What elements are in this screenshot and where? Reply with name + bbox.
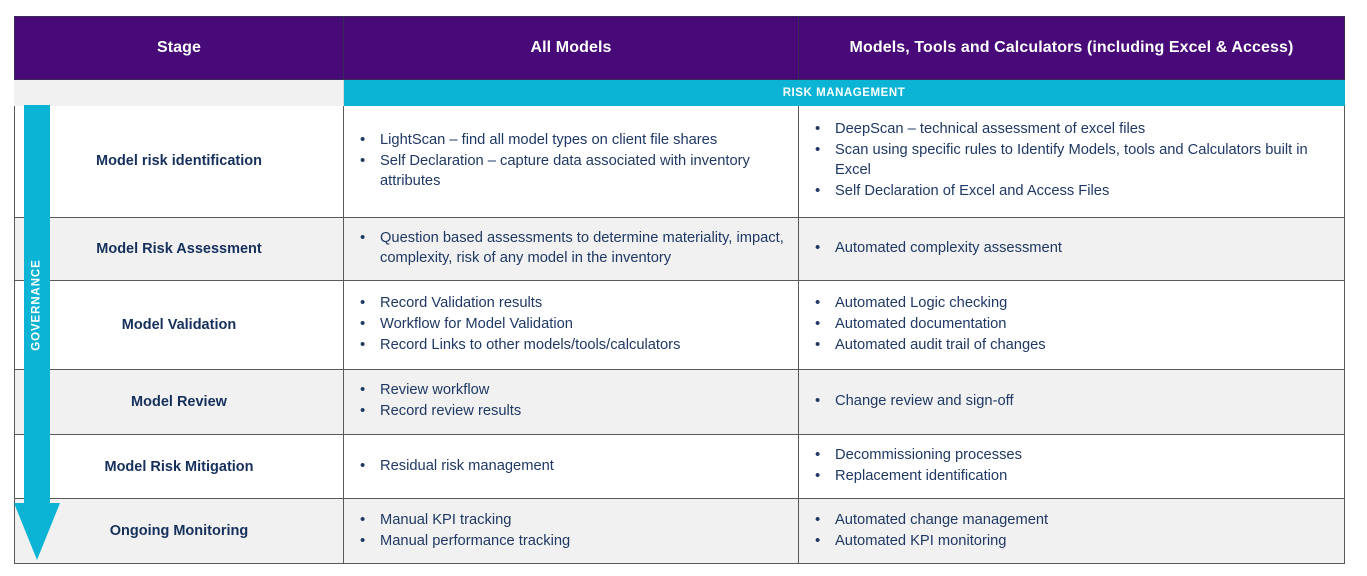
table-row: Ongoing Monitoring Manual KPI tracking M…: [15, 499, 1345, 564]
cell-models-tools-0: DeepScan – technical assessment of excel…: [799, 106, 1345, 218]
list-item: Automated complexity assessment: [813, 239, 1332, 259]
list-item: Replacement identification: [813, 467, 1332, 487]
cell-all-models-3: Review workflow Record review results: [344, 370, 799, 435]
list-item: Record Validation results: [358, 294, 786, 314]
table-header: Stage All Models Models, Tools and Calcu…: [15, 17, 1345, 80]
list-item: Scan using specific rules to Identify Mo…: [813, 141, 1332, 181]
list-item: Manual performance tracking: [358, 532, 786, 552]
list-item: Automated KPI monitoring: [813, 532, 1332, 552]
stage-label-model-risk-mitigation: Model Risk Mitigation: [15, 434, 344, 499]
bullet-list: Automated complexity assessment: [813, 239, 1332, 259]
list-item: DeepScan – technical assessment of excel…: [813, 120, 1332, 140]
list-item: Residual risk management: [358, 457, 786, 477]
cell-all-models-1: Question based assessments to determine …: [344, 217, 799, 280]
list-item: Automated Logic checking: [813, 294, 1332, 314]
lifecycle-table: Stage All Models Models, Tools and Calcu…: [14, 16, 1345, 564]
section-band-risk-management: RISK MANAGEMENT: [344, 80, 1345, 106]
list-item: Automated audit trail of changes: [813, 336, 1332, 356]
cell-all-models-5: Manual KPI tracking Manual performance t…: [344, 499, 799, 564]
list-item: Self Declaration – capture data associat…: [358, 152, 786, 192]
list-item: Decommissioning processes: [813, 446, 1332, 466]
list-item: Automated change management: [813, 511, 1332, 531]
cell-models-tools-1: Automated complexity assessment: [799, 217, 1345, 280]
list-item: Change review and sign-off: [813, 392, 1332, 412]
stage-label-model-validation: Model Validation: [15, 281, 344, 370]
bullet-list: Question based assessments to determine …: [358, 229, 786, 269]
lifecycle-table-wrapper: Stage All Models Models, Tools and Calcu…: [14, 16, 1344, 564]
section-band-row: RISK MANAGEMENT: [15, 80, 1345, 106]
bullet-list: Record Validation results Workflow for M…: [358, 294, 786, 356]
list-item: Record Links to other models/tools/calcu…: [358, 336, 786, 356]
list-item: Workflow for Model Validation: [358, 315, 786, 335]
model-risk-lifecycle-diagram: Stage All Models Models, Tools and Calcu…: [0, 0, 1367, 576]
table-row: Model Risk Assessment Question based ass…: [15, 217, 1345, 280]
cell-models-tools-4: Decommissioning processes Replacement id…: [799, 434, 1345, 499]
column-header-stage: Stage: [15, 17, 344, 80]
list-item: Manual KPI tracking: [358, 511, 786, 531]
header-row: Stage All Models Models, Tools and Calcu…: [15, 17, 1345, 80]
bullet-list: Residual risk management: [358, 457, 786, 477]
stage-label-model-risk-identification: Model risk identification: [15, 106, 344, 218]
stage-label-model-risk-assessment: Model Risk Assessment: [15, 217, 344, 280]
cell-models-tools-2: Automated Logic checking Automated docum…: [799, 281, 1345, 370]
bullet-list: DeepScan – technical assessment of excel…: [813, 120, 1332, 202]
bullet-list: Review workflow Record review results: [358, 381, 786, 422]
column-header-models-tools-calculators: Models, Tools and Calculators (including…: [799, 17, 1345, 80]
list-item: LightScan – find all model types on clie…: [358, 131, 786, 151]
table-row: Model Validation Record Validation resul…: [15, 281, 1345, 370]
column-header-all-models: All Models: [344, 17, 799, 80]
bullet-list: Automated Logic checking Automated docum…: [813, 294, 1332, 356]
bullet-list: Automated change management Automated KP…: [813, 511, 1332, 552]
table-row: Model Risk Mitigation Residual risk mana…: [15, 434, 1345, 499]
list-item: Automated documentation: [813, 315, 1332, 335]
cell-all-models-4: Residual risk management: [344, 434, 799, 499]
stage-label-model-review: Model Review: [15, 370, 344, 435]
table-row: Model Review Review workflow Record revi…: [15, 370, 1345, 435]
cell-all-models-2: Record Validation results Workflow for M…: [344, 281, 799, 370]
cell-models-tools-5: Automated change management Automated KP…: [799, 499, 1345, 564]
cell-models-tools-3: Change review and sign-off: [799, 370, 1345, 435]
table-row: Model risk identification LightScan – fi…: [15, 106, 1345, 218]
stage-label-ongoing-monitoring: Ongoing Monitoring: [15, 499, 344, 564]
section-band-spacer: [15, 80, 344, 106]
list-item: Review workflow: [358, 381, 786, 401]
list-item: Self Declaration of Excel and Access Fil…: [813, 182, 1332, 202]
list-item: Question based assessments to determine …: [358, 229, 786, 269]
list-item: Record review results: [358, 402, 786, 422]
bullet-list: LightScan – find all model types on clie…: [358, 131, 786, 192]
bullet-list: Decommissioning processes Replacement id…: [813, 446, 1332, 487]
bullet-list: Change review and sign-off: [813, 392, 1332, 412]
bullet-list: Manual KPI tracking Manual performance t…: [358, 511, 786, 552]
table-body: RISK MANAGEMENT Model risk identificatio…: [15, 80, 1345, 564]
cell-all-models-0: LightScan – find all model types on clie…: [344, 106, 799, 218]
